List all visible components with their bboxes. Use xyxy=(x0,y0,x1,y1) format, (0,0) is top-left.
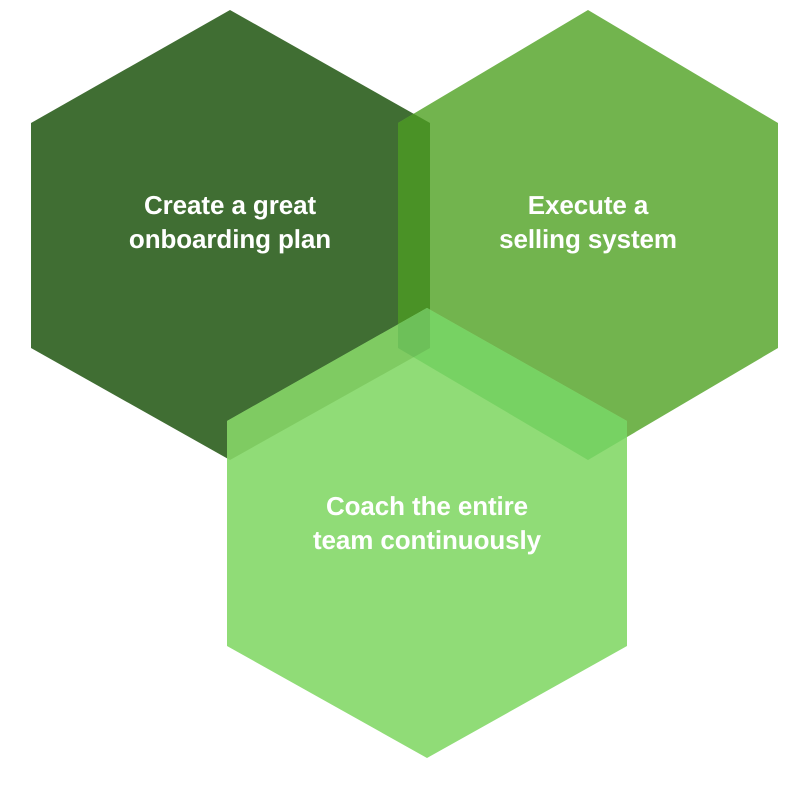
hexagon-diagram: Create a great onboarding plan Execute a… xyxy=(0,0,800,800)
hexagon-shapes xyxy=(0,0,800,800)
